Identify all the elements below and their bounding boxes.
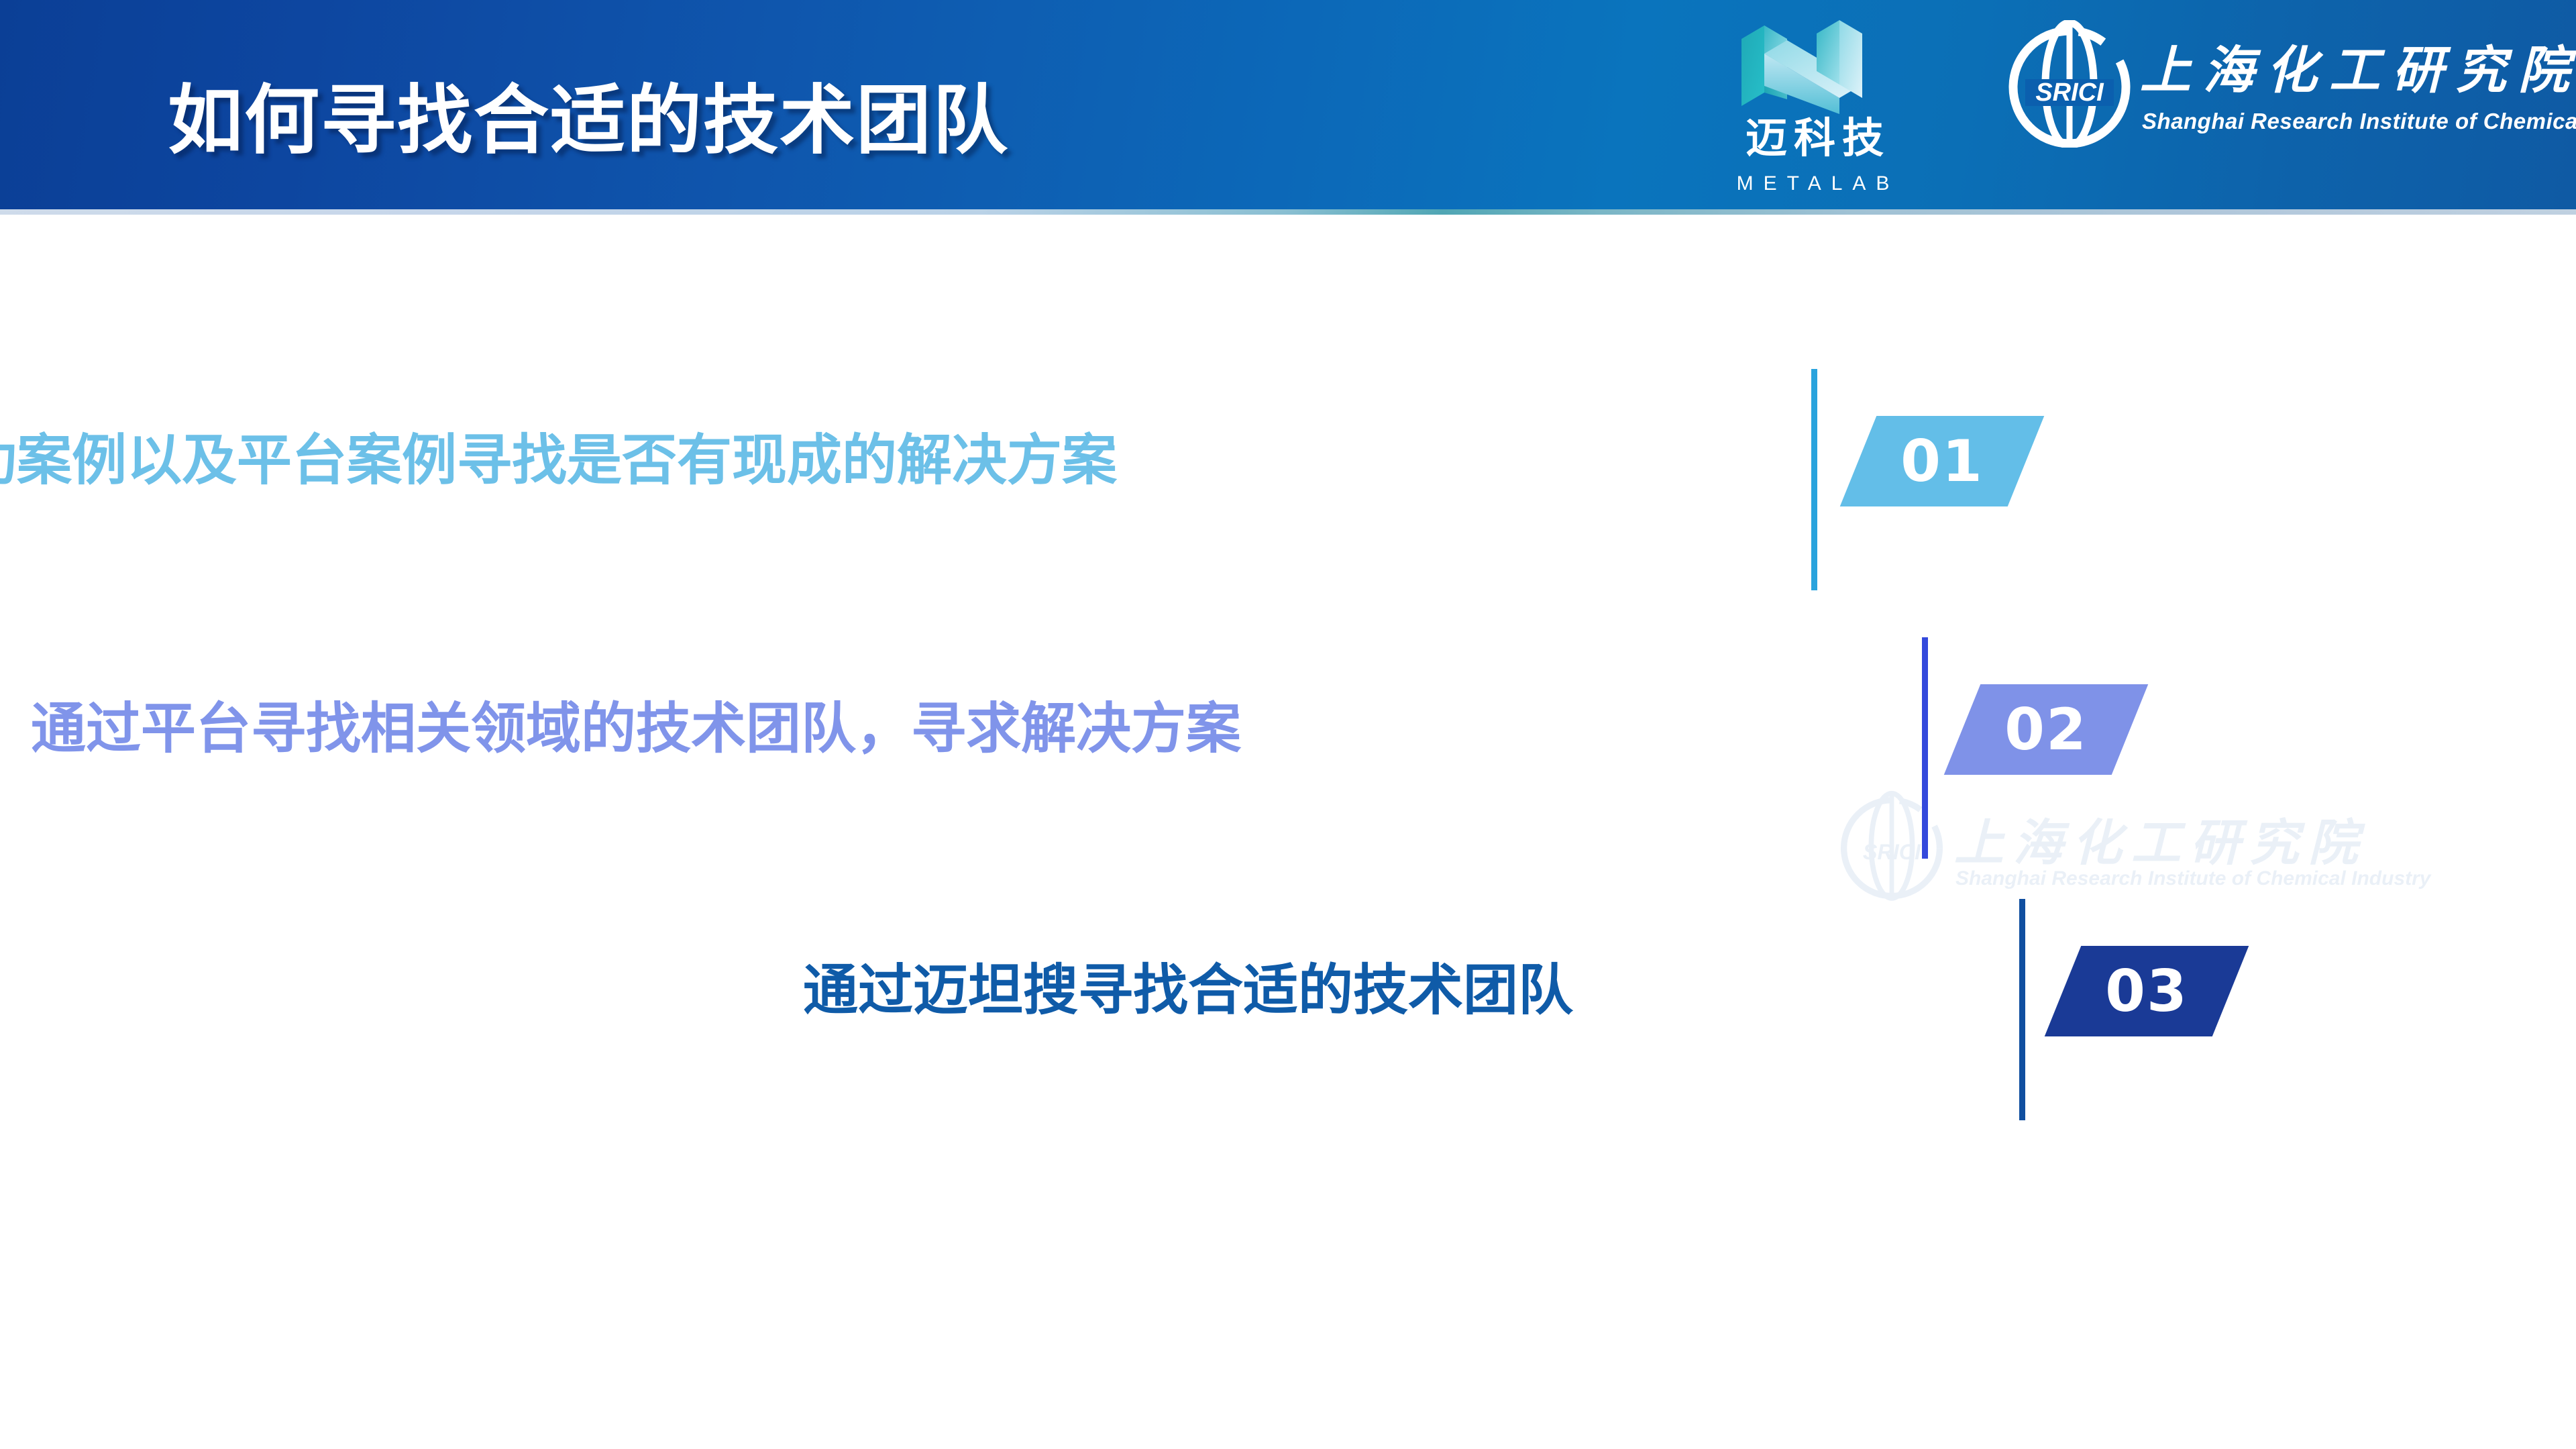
step-rule-03 [2019, 899, 2025, 1120]
step-label-03: 通过迈坦搜寻找合适的技术团队 [803, 963, 1573, 1018]
srici-english-name: Shanghai Research Institute of Chemical … [2142, 110, 2576, 132]
step-badge-02[interactable]: 02 [1944, 684, 2149, 775]
step-rule-01 [1811, 369, 1817, 590]
metalab-m-mark-icon [1732, 12, 1872, 114]
srici-watermark-english-name: Shanghai Research Institute of Chemical … [1955, 867, 2431, 890]
metalab-english-name: METALAB [1717, 174, 1919, 194]
srici-circle-emblem-icon: SRICI [2002, 20, 2137, 148]
step-number-03: 03 [2063, 946, 2231, 1036]
page-title: 如何寻找合适的技术团队 [168, 79, 1009, 162]
slide-header-bar: 如何寻找合适的技术团队 [0, 0, 2576, 215]
slide-body: SRICI 上海化工研究院 Shanghai Research Institut… [0, 215, 2576, 1449]
step-badge-01[interactable]: 01 [1840, 416, 2045, 506]
step-row-02[interactable]: 通过平台寻找相关领域的技术团队，寻求解决方案 02 [0, 637, 2133, 859]
step-label-02: 通过平台寻找相关领域的技术团队，寻求解决方案 [31, 702, 1241, 757]
srici-logo: SRICI 上海化工研究院 Shanghai Research Institut… [2002, 20, 2532, 148]
step-number-01: 01 [1858, 416, 2026, 506]
metalab-chinese-name: 迈科技 [1717, 118, 1919, 160]
step-label-01: 通过自身成功案例以及平台案例寻找是否有现成的解决方案 [0, 433, 1117, 488]
step-row-03[interactable]: 通过迈坦搜寻找合适的技术团队 03 [0, 899, 2294, 1120]
srici-chinese-name: 上海化工研究院 [2140, 46, 2576, 97]
step-rule-02 [1922, 637, 1928, 859]
metalab-logo: 迈科技 METALAB [1717, 9, 1919, 224]
step-row-01[interactable]: 通过自身成功案例以及平台案例寻找是否有现成的解决方案 01 [0, 369, 2080, 590]
svg-text:SRICI: SRICI [2035, 78, 2104, 107]
step-badge-03[interactable]: 03 [2045, 946, 2249, 1036]
step-number-02: 02 [1962, 684, 2130, 775]
